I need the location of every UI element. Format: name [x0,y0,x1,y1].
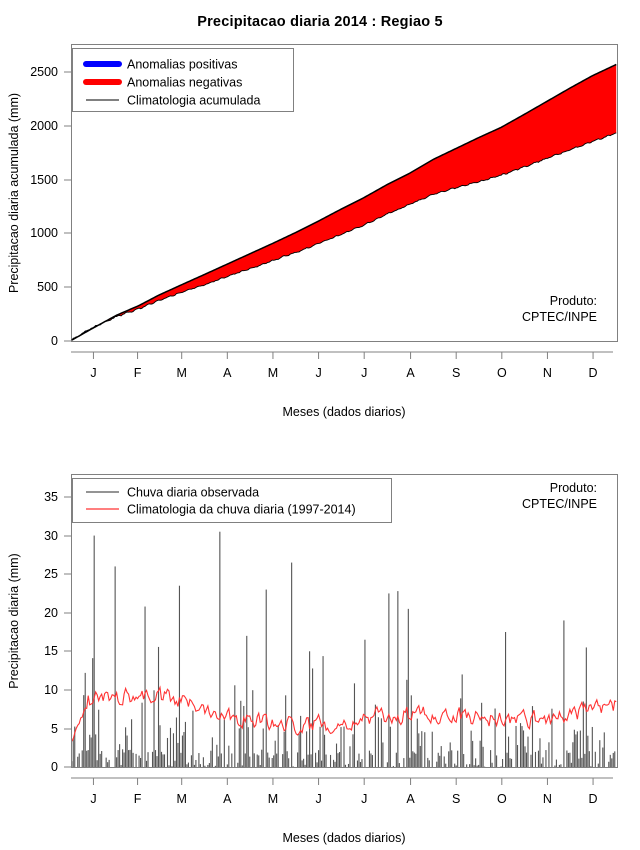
daily-rain-impulse [260,765,261,767]
bottom-xtick-label-M: M [176,792,186,806]
daily-rain-impulse [333,760,334,767]
daily-rain-impulse [248,727,249,767]
bottom-ytick-25: 25 [44,567,58,581]
top-ytick-0: 0 [51,334,58,348]
top-ytick-500: 500 [37,280,58,294]
top-ytick-1000: 1000 [30,226,58,240]
daily-rain-impulse [177,743,178,767]
bottom-ytick-35: 35 [44,490,58,504]
top-panel-chart: 2500 2000 1500 1000 500 0 Precipitacao d… [0,0,640,430]
daily-rain-impulse [524,746,525,767]
top-x-axis: JFMAMJJASOND [71,352,613,380]
bottom-xtick-label-S: S [452,792,460,806]
daily-rain-impulse [299,734,300,767]
daily-rain-impulse [496,755,497,767]
top-legend: Anomalias positivasAnomalias negativasCl… [73,49,294,112]
top-xtick-label-J: J [315,366,321,380]
daily-rain-impulse [360,762,361,767]
daily-rain-impulse [589,751,590,767]
bottom-legend: Chuva diaria observadaClimatologia da ch… [73,479,392,523]
top-xtick-label-A: A [406,366,415,380]
daily-rain-impulse [191,755,192,767]
daily-rain-impulse [237,763,238,767]
bottom-ytick-30: 30 [44,529,58,543]
top-xtick-label-D: D [589,366,598,380]
bottom-ytick-5: 5 [51,722,58,736]
daily-rain-impulse [568,753,569,767]
daily-rain-impulse [86,751,87,767]
daily-rain-impulse [152,752,153,767]
daily-rain-impulse [614,751,615,767]
daily-rain-impulse [462,674,463,767]
daily-rain-impulse [526,753,527,767]
daily-rain-impulse [323,656,324,767]
daily-rain-impulse [312,668,313,767]
daily-rain-impulse [116,757,117,767]
daily-rain-impulse [507,753,508,767]
daily-rain-impulse [142,703,143,767]
daily-rain-impulse [336,744,337,767]
daily-rain-impulse [210,751,211,767]
daily-rain-impulse [364,640,365,767]
daily-rain-impulse [261,750,262,767]
top-xtick-label-J: J [361,366,367,380]
daily-rain-impulse [548,742,549,767]
daily-rain-impulse [523,730,524,767]
daily-rain-impulse [399,763,400,767]
daily-rain-impulse [320,727,321,767]
daily-rain-impulse [315,753,316,767]
daily-rain-impulse [130,750,131,767]
daily-rain-impulse [456,765,457,767]
daily-rain-impulse [471,731,472,767]
bottom-xtick-label-J: J [90,792,96,806]
daily-rain-impulse [501,766,502,767]
daily-rain-impulse [174,761,175,767]
daily-rain-impulse [538,751,539,767]
daily-rain-impulse [285,695,286,767]
daily-rain-impulse [460,698,461,767]
top-y-axis: 2500 2000 1500 1000 500 0 [30,65,71,348]
daily-rain-impulse [432,732,433,767]
daily-rain-impulse [167,738,168,767]
daily-rain-impulse [258,755,259,767]
daily-rain-impulse [272,758,273,767]
daily-rain-impulse [478,765,479,767]
daily-rain-impulse [439,756,440,767]
daily-rain-impulse [162,754,163,767]
bottom-x-axis: JFMAMJJASOND [71,778,613,806]
daily-rain-impulse [136,754,137,767]
daily-rain-impulse [438,753,439,767]
daily-rain-impulse [490,750,491,767]
daily-rain-impulse [406,680,407,767]
daily-rain-impulse [82,750,83,767]
daily-rain-impulse [139,756,140,767]
daily-rain-impulse [448,751,449,767]
daily-rain-impulse [583,702,584,768]
daily-rain-impulse [390,727,391,767]
bottom-ytick-15: 15 [44,644,58,658]
daily-rain-impulse [183,732,184,767]
daily-rain-impulse [469,764,470,767]
daily-rain-impulse [577,731,578,767]
bottom-x-axis-label: Meses (dados diarios) [283,831,406,845]
daily-rain-impulse [535,752,536,767]
daily-rain-impulse [590,766,591,767]
daily-rain-impulse [530,755,531,767]
daily-rain-impulse [396,753,397,767]
daily-rain-impulse [221,753,222,767]
daily-rain-impulse [326,755,327,767]
daily-rain-impulse [282,754,283,767]
daily-rain-impulse [234,685,235,767]
daily-rain-impulse [492,763,493,767]
daily-rain-impulse [311,754,312,767]
daily-rain-impulse [418,733,419,767]
daily-rain-impulse [472,741,473,767]
daily-rain-impulse [581,758,582,767]
daily-rain-impulse [173,733,174,767]
daily-rain-impulse [188,763,189,767]
top-xtick-label-O: O [497,366,507,380]
daily-rain-impulse [598,764,599,767]
daily-rain-impulse [403,758,404,767]
daily-rain-impulse [95,734,96,767]
daily-rain-impulse [158,647,159,767]
daily-rain-impulse [212,737,213,767]
daily-rain-impulse [198,753,199,767]
bottom-y-axis: 35 30 25 20 15 10 5 0 [44,490,71,774]
daily-rain-impulse [415,754,416,767]
daily-rain-impulse [203,757,204,767]
daily-rain-impulse [92,658,93,767]
daily-rain-impulse [306,731,307,767]
daily-rain-impulse [411,695,412,767]
daily-rain-impulse [118,750,119,767]
daily-rain-impulse [559,765,560,767]
daily-rain-impulse [107,762,108,767]
daily-rain-impulse [106,758,107,767]
daily-rain-impulse [334,762,335,767]
daily-rain-impulse [170,728,171,767]
daily-rain-impulse [481,703,482,767]
daily-rain-impulse [200,764,201,767]
daily-rain-impulse [155,750,156,767]
daily-rain-impulse [480,741,481,767]
daily-rain-impulse [302,760,303,767]
daily-rain-impulse [502,759,503,767]
top-xtick-label-M: M [268,366,278,380]
daily-rain-impulse [122,749,123,767]
daily-rain-impulse [369,751,370,767]
bottom-xtick-label-A: A [223,792,232,806]
daily-rain-impulse [273,755,274,767]
daily-rain-impulse [128,750,129,767]
daily-rain-impulse [417,719,418,767]
daily-rain-impulse [429,760,430,767]
top-xtick-label-M: M [176,366,186,380]
daily-rain-impulse [444,756,445,767]
daily-rain-impulse [288,758,289,767]
daily-rain-impulse [381,718,382,767]
daily-rain-impulse [483,747,484,767]
daily-rain-impulse [382,742,383,767]
daily-rain-impulse [195,760,196,767]
daily-rain-impulse [176,717,177,767]
daily-rain-impulse [357,760,358,767]
daily-rain-impulse [300,716,301,767]
daily-rain-impulse [180,753,181,767]
daily-rain-impulse [560,764,561,767]
bottom-annotation-line1: Produto: [550,481,597,495]
daily-rain-impulse [242,765,243,767]
legend-daily-climatology-label: Climatologia da chuva diaria (1997-2014) [127,503,356,517]
daily-rain-impulse [375,705,376,767]
daily-rain-impulse [348,764,349,767]
daily-rain-impulse [192,711,193,767]
bottom-annotation-line2: CPTEC/INPE [522,497,597,511]
daily-rain-impulse [424,732,425,767]
daily-rain-impulse [252,690,253,767]
daily-rain-impulse [182,736,183,767]
daily-rain-impulse [83,695,84,767]
daily-rain-impulse [477,766,478,767]
daily-rain-impulse [231,753,232,767]
daily-rain-impulse [224,720,225,767]
figure-root: Precipitacao diaria 2014 : Regiao 5 2500… [0,0,640,850]
daily-rain-impulse [317,762,318,767]
bottom-ytick-0: 0 [51,760,58,774]
daily-rain-impulse [119,744,120,767]
daily-rain-impulse [345,765,346,767]
daily-rain-impulse [595,752,596,767]
daily-rain-impulse [186,764,187,767]
daily-rain-impulse [209,763,210,767]
daily-rain-impulse [388,593,389,767]
bottom-y-axis-label: Precipitacao diaria (mm) [7,553,21,688]
legend-positive-anomalies-label: Anomalias positivas [127,58,237,72]
daily-rain-impulse [397,591,398,767]
top-xtick-label-F: F [134,366,142,380]
daily-rain-impulse [580,731,581,767]
daily-rain-impulse [266,590,267,767]
daily-rain-impulse [115,566,116,767]
daily-rain-impulse [505,632,506,767]
daily-rain-impulse [185,722,186,767]
daily-rain-impulse [592,727,593,767]
daily-rain-impulse [474,765,475,767]
daily-rain-impulse [566,750,567,767]
daily-rain-impulse [179,586,180,767]
top-y-axis-label: Precipitacao diaria acumulada (mm) [7,93,21,293]
daily-rain-impulse [171,766,172,767]
daily-rain-impulse [466,764,467,767]
daily-rain-impulse [572,742,573,767]
legend-negative-anomalies-label: Anomalias negativas [127,76,242,90]
daily-rain-impulse [140,758,141,767]
daily-rain-impulse [450,742,451,767]
top-x-axis-label: Meses (dados diarios) [283,405,406,419]
daily-rain-impulse [556,760,557,767]
daily-rain-impulse [408,609,409,767]
bottom-xtick-label-A: A [406,792,415,806]
daily-rain-impulse [436,762,437,767]
daily-rain-impulse [127,736,128,767]
daily-rain-impulse [445,764,446,767]
daily-rain-impulse [475,758,476,767]
daily-rain-impulse [97,760,98,767]
legend-observed-daily-rain-label: Chuva diaria observada [127,486,259,500]
top-annotation-line1: Produto: [550,294,597,308]
daily-rain-impulse [278,725,279,767]
daily-rain-impulse [370,753,371,767]
daily-rain-impulse [321,761,322,767]
daily-rain-impulse [571,763,572,767]
daily-rain-impulse [77,757,78,767]
daily-rain-impulse [159,725,160,767]
daily-rain-impulse [164,754,165,767]
daily-rain-impulse [337,753,338,767]
daily-rain-impulse [554,766,555,767]
daily-rain-impulse [324,735,325,767]
daily-rain-impulse [521,726,522,767]
daily-rain-impulse [79,753,80,767]
daily-rain-impulse [125,727,126,767]
daily-rain-impulse [509,758,510,767]
daily-rain-impulse [542,757,543,767]
daily-rain-impulse [121,765,122,767]
daily-rain-impulse [101,751,102,767]
daily-rain-impulse [94,536,95,767]
daily-rain-impulse [610,755,611,767]
daily-rain-impulse [508,737,509,767]
daily-rain-impulse [216,745,217,767]
daily-rain-impulse [109,760,110,767]
daily-rain-impulse [361,759,362,767]
bottom-xtick-label-J: J [315,792,321,806]
daily-rain-impulse [297,752,298,767]
daily-rain-impulse [89,735,90,767]
daily-rain-impulse [131,719,132,767]
top-annotation-line2: CPTEC/INPE [522,310,597,324]
daily-rain-impulse [578,759,579,767]
daily-rain-impulse [303,759,304,767]
daily-rain-impulse [133,753,134,767]
daily-rain-impulse [91,737,92,767]
daily-rain-impulse [287,751,288,767]
daily-rain-impulse [584,754,585,767]
daily-rain-impulse [275,741,276,767]
daily-rain-impulse [146,761,147,767]
daily-rain-impulse [613,753,614,767]
daily-rain-impulse [599,740,600,767]
top-xtick-label-A: A [223,366,232,380]
daily-rain-impulse [156,756,157,767]
top-ytick-2000: 2000 [30,119,58,133]
daily-rain-impulse [219,532,220,767]
bottom-ytick-20: 20 [44,606,58,620]
daily-rain-impulse [239,728,240,767]
daily-rain-impulse [124,752,125,767]
bottom-xtick-label-N: N [543,792,552,806]
top-xtick-label-J: J [90,366,96,380]
daily-rain-impulse [73,738,74,767]
observed-accumulated-line [72,133,617,340]
daily-rain-impulse [276,754,277,767]
top-ytick-2500: 2500 [30,65,58,79]
bottom-xtick-label-M: M [268,792,278,806]
daily-rain-impulse [228,746,229,767]
daily-rain-impulse [349,746,350,767]
daily-rain-impulse [539,738,540,767]
daily-rain-impulse [454,764,455,767]
daily-rain-impulse [358,754,359,767]
legend-accumulated-climatology-label: Climatologia acumulada [127,94,260,108]
daily-rain-impulse [511,759,512,767]
daily-rain-impulse [339,752,340,767]
daily-rain-impulse [144,607,145,767]
daily-rain-impulse [608,762,609,767]
daily-rain-impulse [267,753,268,767]
daily-rain-impulse [575,734,576,767]
bottom-panel-chart: 35 30 25 20 15 10 5 0 Precipitacao diari… [0,430,640,850]
daily-rain-impulse [563,620,564,767]
daily-rain-impulse [527,737,528,767]
daily-rain-impulse [246,636,247,767]
daily-rain-impulse [249,757,250,767]
daily-rain-impulse [227,764,228,767]
top-ytick-1500: 1500 [30,173,58,187]
daily-rain-impulse [147,752,148,767]
daily-rain-impulse [245,753,246,767]
daily-rain-impulse [541,764,542,767]
daily-rain-impulse [421,731,422,767]
daily-rain-impulse [378,717,379,767]
daily-rain-impulse [495,709,496,767]
daily-rain-impulse [318,750,319,767]
bottom-xtick-label-O: O [497,792,507,806]
daily-rain-impulse [545,750,546,767]
bottom-ytick-10: 10 [44,683,58,697]
daily-rain-impulse [409,758,410,767]
daily-rain-impulse [427,758,428,767]
daily-rain-impulse [393,766,394,767]
daily-rain-impulse [340,727,341,767]
daily-rain-impulse [372,755,373,767]
daily-rain-impulse [207,765,208,767]
daily-rain-impulse [309,651,310,767]
daily-rain-impulse [257,755,258,767]
daily-rain-impulse [168,765,169,767]
top-xtick-label-N: N [543,366,552,380]
daily-rain-impulse [602,748,603,767]
daily-rain-impulse [291,563,292,767]
daily-rain-impulse [204,766,205,767]
daily-rain-impulse [293,766,294,767]
daily-rain-impulse [352,734,353,767]
top-xtick-label-S: S [452,366,460,380]
daily-rain-impulse [284,732,285,767]
daily-rain-impulse [98,710,99,767]
daily-rain-impulse [520,723,521,767]
daily-rain-impulse [308,755,309,767]
daily-rain-impulse [387,762,388,767]
daily-rain-impulse [611,758,612,767]
daily-rain-impulse [441,746,442,767]
daily-rain-impulse [457,751,458,767]
daily-rain-impulse [515,726,516,767]
